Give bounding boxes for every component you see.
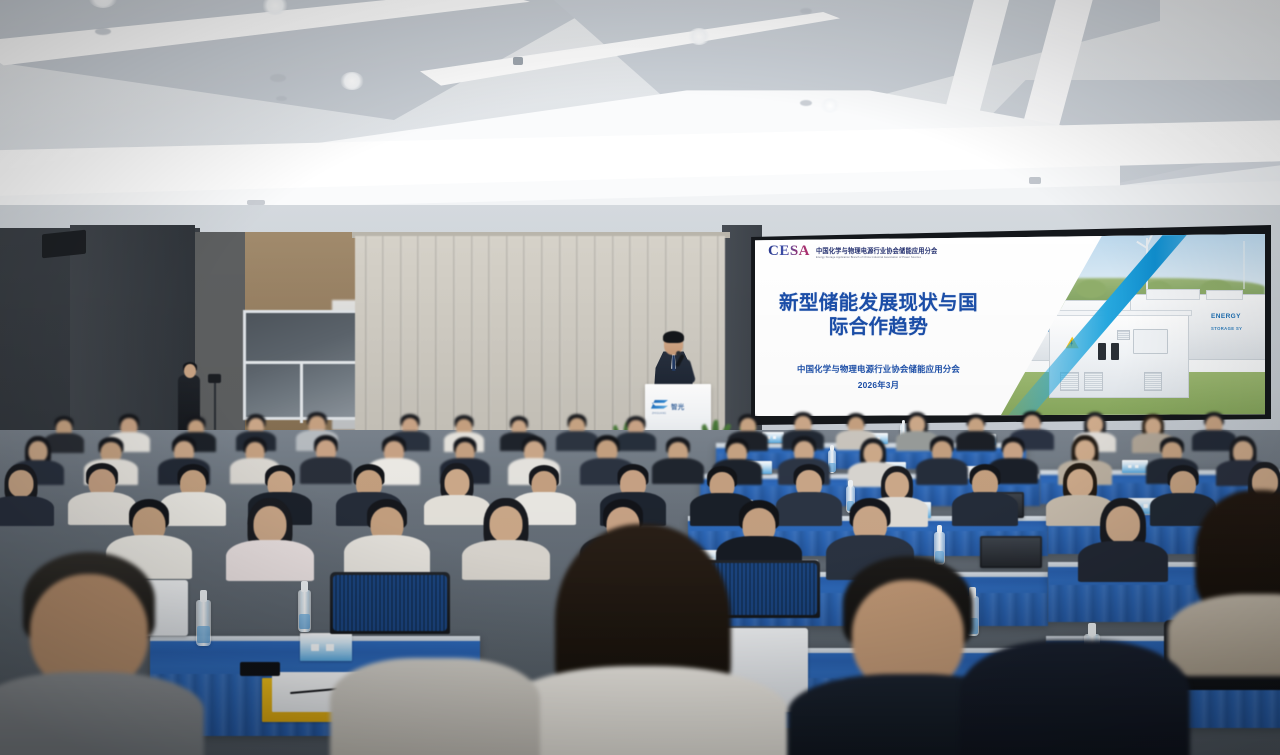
audience-person-foreground [330,648,540,755]
tree-icon [1076,280,1106,298]
video-camera-icon [208,374,221,383]
conference-photo-scene: ENERGY STORAGE SYSTEM ENERGY STORAGE SY [0,0,1280,755]
audience-person-foreground [498,524,788,755]
ceiling [0,0,1280,232]
downlight-icon [340,72,364,90]
tree-icon [1017,281,1043,297]
cabinet-door-handle [1098,343,1106,359]
ceiling-vent-icon [270,74,286,82]
photo-caption-storage-2: STORAGE SY [1211,327,1242,332]
slide-subtitle: 中国化学与物理电源行业协会储能应用分会 [771,362,986,378]
cesa-org-cn: 中国化学与物理电源行业协会储能应用分会 [816,248,937,256]
ceiling-vent-icon [95,28,111,35]
audience-person-foreground [960,620,1190,755]
cabinet-control-panel [1133,329,1168,354]
presentation-slide: ENERGY STORAGE SYSTEM ENERGY STORAGE SY [755,234,1265,416]
name-card [1122,460,1148,473]
speaker-hair [663,331,684,343]
photo-caption-energy-2: ENERGY [1211,314,1241,321]
downlight-icon [688,28,710,45]
cesa-org-en: Energy Storage Application Branch of Chi… [816,256,937,259]
screen-surface: ENERGY STORAGE SYSTEM ENERGY STORAGE SY [755,234,1265,416]
audience-person [226,498,314,578]
audience-person-foreground [0,552,204,755]
projection-screen: ENERGY STORAGE SYSTEM ENERGY STORAGE SY [749,225,1271,425]
photo-caption-energy: ENERGY [1006,316,1036,323]
lectern-logo-subtext: ZHIGUANG [652,412,666,415]
slide-logo: CESA 中国化学与物理电源行业协会储能应用分会 Energy Storage … [768,244,937,259]
audience-person [952,464,1018,524]
slide-subtitle-block: 中国化学与物理电源行业协会储能应用分会 2026年3月 [771,362,986,394]
ceiling-vent-icon [800,8,812,14]
ceiling-spot-fixture [513,57,523,65]
standing-person-head [184,364,196,378]
zhiguang-mark-icon [651,400,668,411]
audience-person [0,464,54,524]
chair [330,572,450,634]
slide-title-line-1: 新型储能发展现状与国 [771,292,986,316]
exterior-window [243,310,363,420]
ceiling-spot-fixture [1029,177,1041,184]
lectern-logo-text: 智光 [671,401,685,411]
downlight-icon [820,98,840,113]
cabinet-louver-vent [1117,330,1131,339]
cesa-wordmark: CESA [768,244,810,259]
wind-turbine-icon [1243,241,1245,288]
cabinet-louver-vent [1144,372,1163,390]
slide-date: 2026年3月 [771,378,986,394]
container-rooftop-unit [1206,290,1244,299]
photo-caption-storage: STORAGE SYSTEM [1006,329,1051,334]
container-rooftop-unit [1146,289,1200,300]
slide-title: 新型储能发展现状与国 际合作趋势 [771,292,986,340]
ceiling-vent-icon [276,96,287,101]
audience-person [1078,498,1168,580]
lectern-logo: 智光 [651,400,685,411]
slide-title-line-2: 际合作趋势 [771,316,986,340]
water-bottle [298,590,311,632]
wall-speaker-icon [42,230,86,259]
smartphone [240,662,280,676]
cabinet-door-handle [1111,343,1119,359]
audience-person [344,499,430,578]
cabinet-louver-vent [1084,372,1103,390]
ceiling-vent-icon [800,100,812,106]
microphone-head [676,351,681,356]
